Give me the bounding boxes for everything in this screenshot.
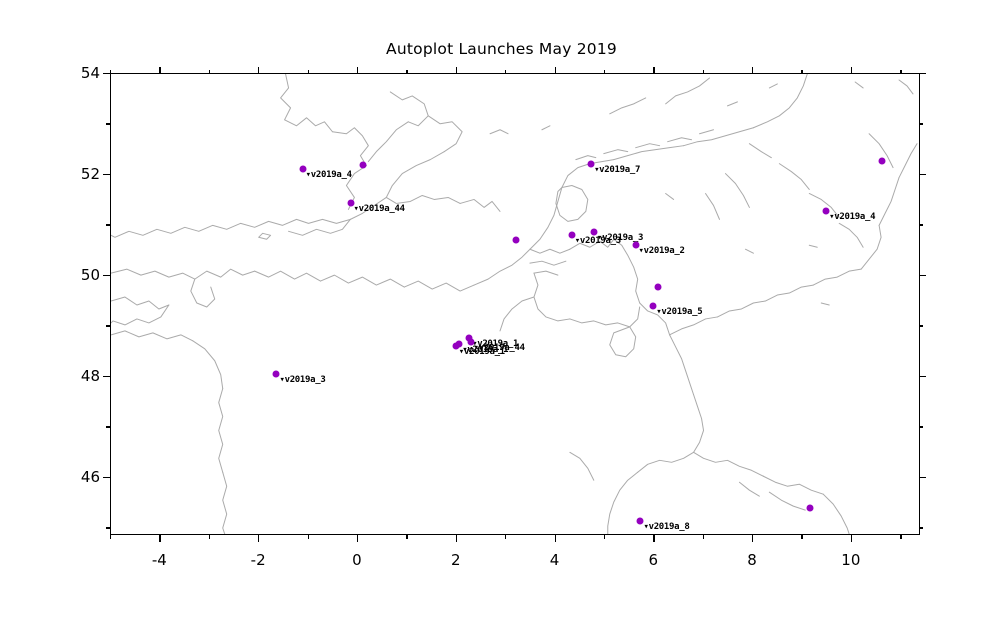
y-tick-minor-right	[919, 426, 923, 427]
x-tick-minor-top	[505, 70, 506, 74]
y-tick-label: 52	[60, 165, 100, 183]
data-point	[655, 284, 662, 291]
x-tick-minor	[900, 535, 901, 539]
y-tick-minor-right	[919, 123, 923, 124]
data-point	[879, 157, 886, 164]
x-tick-major-top	[357, 67, 358, 74]
x-tick-major	[851, 535, 852, 542]
x-tick-minor-top	[209, 70, 210, 74]
x-tick-label: 2	[451, 551, 461, 569]
data-point-label: ▾v2019a_7	[594, 165, 640, 175]
x-tick-minor	[406, 535, 407, 539]
x-tick-minor	[209, 535, 210, 539]
y-tick-label: 46	[60, 468, 100, 486]
data-point-label: ▾v2019a_2	[639, 246, 685, 256]
x-tick-minor-top	[604, 70, 605, 74]
x-tick-major-top	[258, 67, 259, 74]
scatter-points: ▾v2019a_4▾v2019a_44▾v2019a_7▾v2019a_4▾v2…	[111, 74, 919, 534]
y-tick-major-right	[919, 174, 926, 175]
x-tick-label: -4	[152, 551, 167, 569]
x-tick-major-top	[653, 67, 654, 74]
y-tick-major	[103, 174, 110, 175]
x-tick-label: 10	[841, 551, 860, 569]
y-tick-label: 50	[60, 266, 100, 284]
data-point-label: ▾v2019a_5	[656, 307, 702, 317]
y-tick-minor-right	[919, 527, 923, 528]
data-point-label: ▾v2019a_44	[354, 204, 405, 214]
x-tick-label: 8	[747, 551, 757, 569]
x-tick-minor-top	[900, 70, 901, 74]
x-tick-major-top	[752, 67, 753, 74]
y-tick-minor	[106, 224, 110, 225]
data-point	[359, 161, 366, 168]
y-tick-major	[103, 73, 110, 74]
x-tick-major	[357, 535, 358, 542]
chart-title: Autoplot Launches May 2019	[0, 40, 1003, 58]
y-tick-major-right	[919, 477, 926, 478]
x-tick-label: -2	[251, 551, 266, 569]
data-point	[806, 505, 813, 512]
x-tick-major	[258, 535, 259, 542]
x-tick-minor-top	[801, 70, 802, 74]
y-tick-major-right	[919, 376, 926, 377]
x-tick-label: 0	[352, 551, 362, 569]
plot-area[interactable]: ▾v2019a_4▾v2019a_44▾v2019a_7▾v2019a_4▾v2…	[110, 73, 920, 535]
x-tick-minor	[703, 535, 704, 539]
y-tick-label: 54	[60, 64, 100, 82]
y-tick-minor	[106, 527, 110, 528]
x-tick-label: 6	[649, 551, 659, 569]
y-tick-major	[103, 376, 110, 377]
x-tick-major	[653, 535, 654, 542]
x-tick-minor	[604, 535, 605, 539]
x-tick-major-top	[555, 67, 556, 74]
x-tick-minor-top	[110, 70, 111, 74]
x-tick-minor	[308, 535, 309, 539]
y-tick-minor	[106, 123, 110, 124]
x-tick-major-top	[456, 67, 457, 74]
x-tick-minor-top	[703, 70, 704, 74]
data-point-label: ▾v2019a_4	[829, 212, 875, 222]
x-tick-major	[555, 535, 556, 542]
y-tick-major-right	[919, 73, 926, 74]
x-tick-major	[159, 535, 160, 542]
x-tick-major-top	[159, 67, 160, 74]
x-tick-minor	[110, 535, 111, 539]
x-tick-major	[456, 535, 457, 542]
x-tick-major-top	[851, 67, 852, 74]
data-point-label: ▾v2019a_8	[643, 522, 689, 532]
x-tick-label: 4	[550, 551, 560, 569]
data-point	[513, 236, 520, 243]
y-tick-minor-right	[919, 325, 923, 326]
x-tick-minor	[505, 535, 506, 539]
data-point-label: ▾v2019a_4	[306, 170, 352, 180]
y-tick-minor	[106, 426, 110, 427]
data-point-label: ▾v2019a_3	[279, 375, 325, 385]
y-tick-major-right	[919, 275, 926, 276]
data-point-label: ▾v2019a_1	[462, 345, 508, 355]
x-tick-minor-top	[406, 70, 407, 74]
x-tick-minor-top	[308, 70, 309, 74]
x-tick-minor	[801, 535, 802, 539]
y-tick-minor-right	[919, 224, 923, 225]
x-tick-major	[752, 535, 753, 542]
y-tick-label: 48	[60, 367, 100, 385]
y-tick-major	[103, 477, 110, 478]
figure-canvas: Autoplot Launches May 2019	[0, 0, 1003, 633]
y-tick-major	[103, 275, 110, 276]
y-tick-minor	[106, 325, 110, 326]
